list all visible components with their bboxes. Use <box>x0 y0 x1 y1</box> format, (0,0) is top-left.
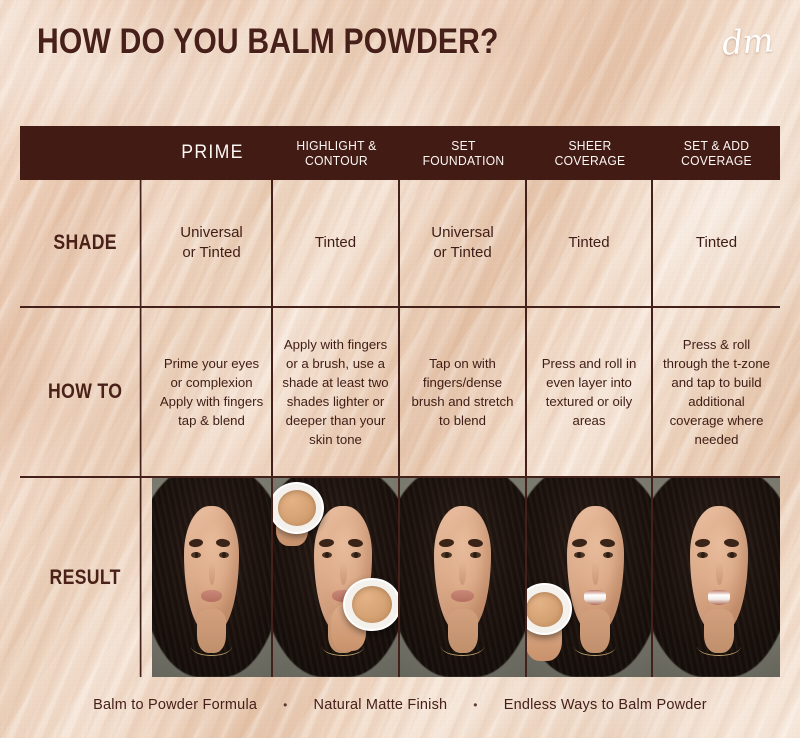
cell-line-1: Tinted <box>568 233 609 253</box>
eye-left <box>697 552 708 558</box>
table-row-how-to: HOW TO Prime your eyes or complexion App… <box>20 308 780 478</box>
eye-right <box>470 552 481 558</box>
necklace <box>441 637 484 656</box>
header-cell-set-add-coverage: SET & ADD COVERAGE <box>657 126 775 180</box>
header-cell-prime: PRIME <box>156 126 269 180</box>
table-header-row: PRIME HIGHLIGHT & CONTOUR SET FOUNDATION… <box>20 126 780 180</box>
header-line-1: SHEER <box>555 138 626 153</box>
nose <box>340 562 347 586</box>
header-line-2: COVERAGE <box>555 153 626 168</box>
header-line-1: SET & ADD <box>681 138 752 153</box>
comparison-table: PRIME HIGHLIGHT & CONTOUR SET FOUNDATION… <box>20 126 780 677</box>
footer-separator-1: • <box>283 698 287 712</box>
nose <box>592 562 599 586</box>
header-line-1: SET <box>423 138 505 153</box>
cell-line-1: Tinted <box>696 233 737 253</box>
cell-how-to-sheer-coverage: Press and roll in even layer into textur… <box>527 308 653 476</box>
header-cell-sheer-coverage: SHEER COVERAGE <box>531 126 648 180</box>
nose <box>209 562 216 586</box>
cell-shade-highlight-contour: Tinted <box>273 180 400 306</box>
model-portrait-sheer-coverage <box>527 478 651 677</box>
header-cell-empty <box>25 126 148 180</box>
cell-line-1: Tinted <box>315 233 356 253</box>
cell-how-to-prime: Prime your eyes or complexion Apply with… <box>152 308 273 476</box>
model-portrait-set-foundation <box>400 478 525 677</box>
eye-right <box>219 552 229 558</box>
cell-how-to-set-add-coverage: Press & roll through the t-zone and tap … <box>653 308 780 476</box>
model-portrait-prime <box>152 478 271 677</box>
eye-right <box>603 552 614 558</box>
cell-shade-set-add-coverage: Tinted <box>653 180 780 306</box>
cell-shade-sheer-coverage: Tinted <box>527 180 653 306</box>
footer-taglines: Balm to Powder Formula • Natural Matte F… <box>0 697 800 713</box>
table-row-shade: SHADE Universal or Tinted Tinted Univers… <box>20 180 780 308</box>
lips <box>708 590 731 604</box>
row-label-result: RESULT <box>31 478 142 677</box>
necklace <box>697 637 740 656</box>
cell-line-1: Universal <box>431 223 494 243</box>
lips <box>584 590 606 604</box>
eye-left <box>574 552 585 558</box>
header-cell-set-foundation: SET FOUNDATION <box>404 126 522 180</box>
footer-item-2: Natural Matte Finish <box>314 697 448 713</box>
result-photo-prime <box>152 478 273 677</box>
eye-right <box>351 552 362 558</box>
cell-how-to-set-foundation: Tap on with fingers/dense brush and stre… <box>400 308 527 476</box>
nose <box>716 562 723 586</box>
table-row-result: RESULT <box>20 478 780 677</box>
cell-line-2: or Tinted <box>180 243 243 263</box>
header-cell-highlight-contour: HIGHLIGHT & CONTOUR <box>277 126 395 180</box>
page-title: HOW DO YOU BALM POWDER? <box>37 22 499 62</box>
footer-item-3: Endless Ways to Balm Powder <box>504 697 707 713</box>
result-photo-set-add-coverage <box>653 478 780 677</box>
header-line-2: CONTOUR <box>296 153 376 168</box>
header-line-1: HIGHLIGHT & <box>296 138 376 153</box>
header-line-2: COVERAGE <box>681 153 752 168</box>
result-photo-sheer-coverage <box>527 478 653 677</box>
model-portrait-set-add-coverage <box>653 478 780 677</box>
cell-shade-set-foundation: Universal or Tinted <box>400 180 527 306</box>
cell-line-2: or Tinted <box>431 243 494 263</box>
footer-separator-2: • <box>473 698 477 712</box>
powder-compact-lower <box>343 578 398 632</box>
row-label-how-to: HOW TO <box>31 308 142 476</box>
result-photo-highlight-contour <box>273 478 400 677</box>
cell-shade-prime: Universal or Tinted <box>152 180 273 306</box>
model-portrait-highlight-contour <box>273 478 398 677</box>
necklace <box>191 637 231 656</box>
cell-how-to-highlight-contour: Apply with fingers or a brush, use a sha… <box>273 308 400 476</box>
header-line-2: FOUNDATION <box>423 153 505 168</box>
dm-logo: dm <box>720 20 773 62</box>
footer-item-1: Balm to Powder Formula <box>93 697 257 713</box>
result-photo-set-foundation <box>400 478 527 677</box>
eye-left <box>441 552 452 558</box>
cell-line-1: Universal <box>180 223 243 243</box>
row-label-shade: SHADE <box>31 180 142 306</box>
